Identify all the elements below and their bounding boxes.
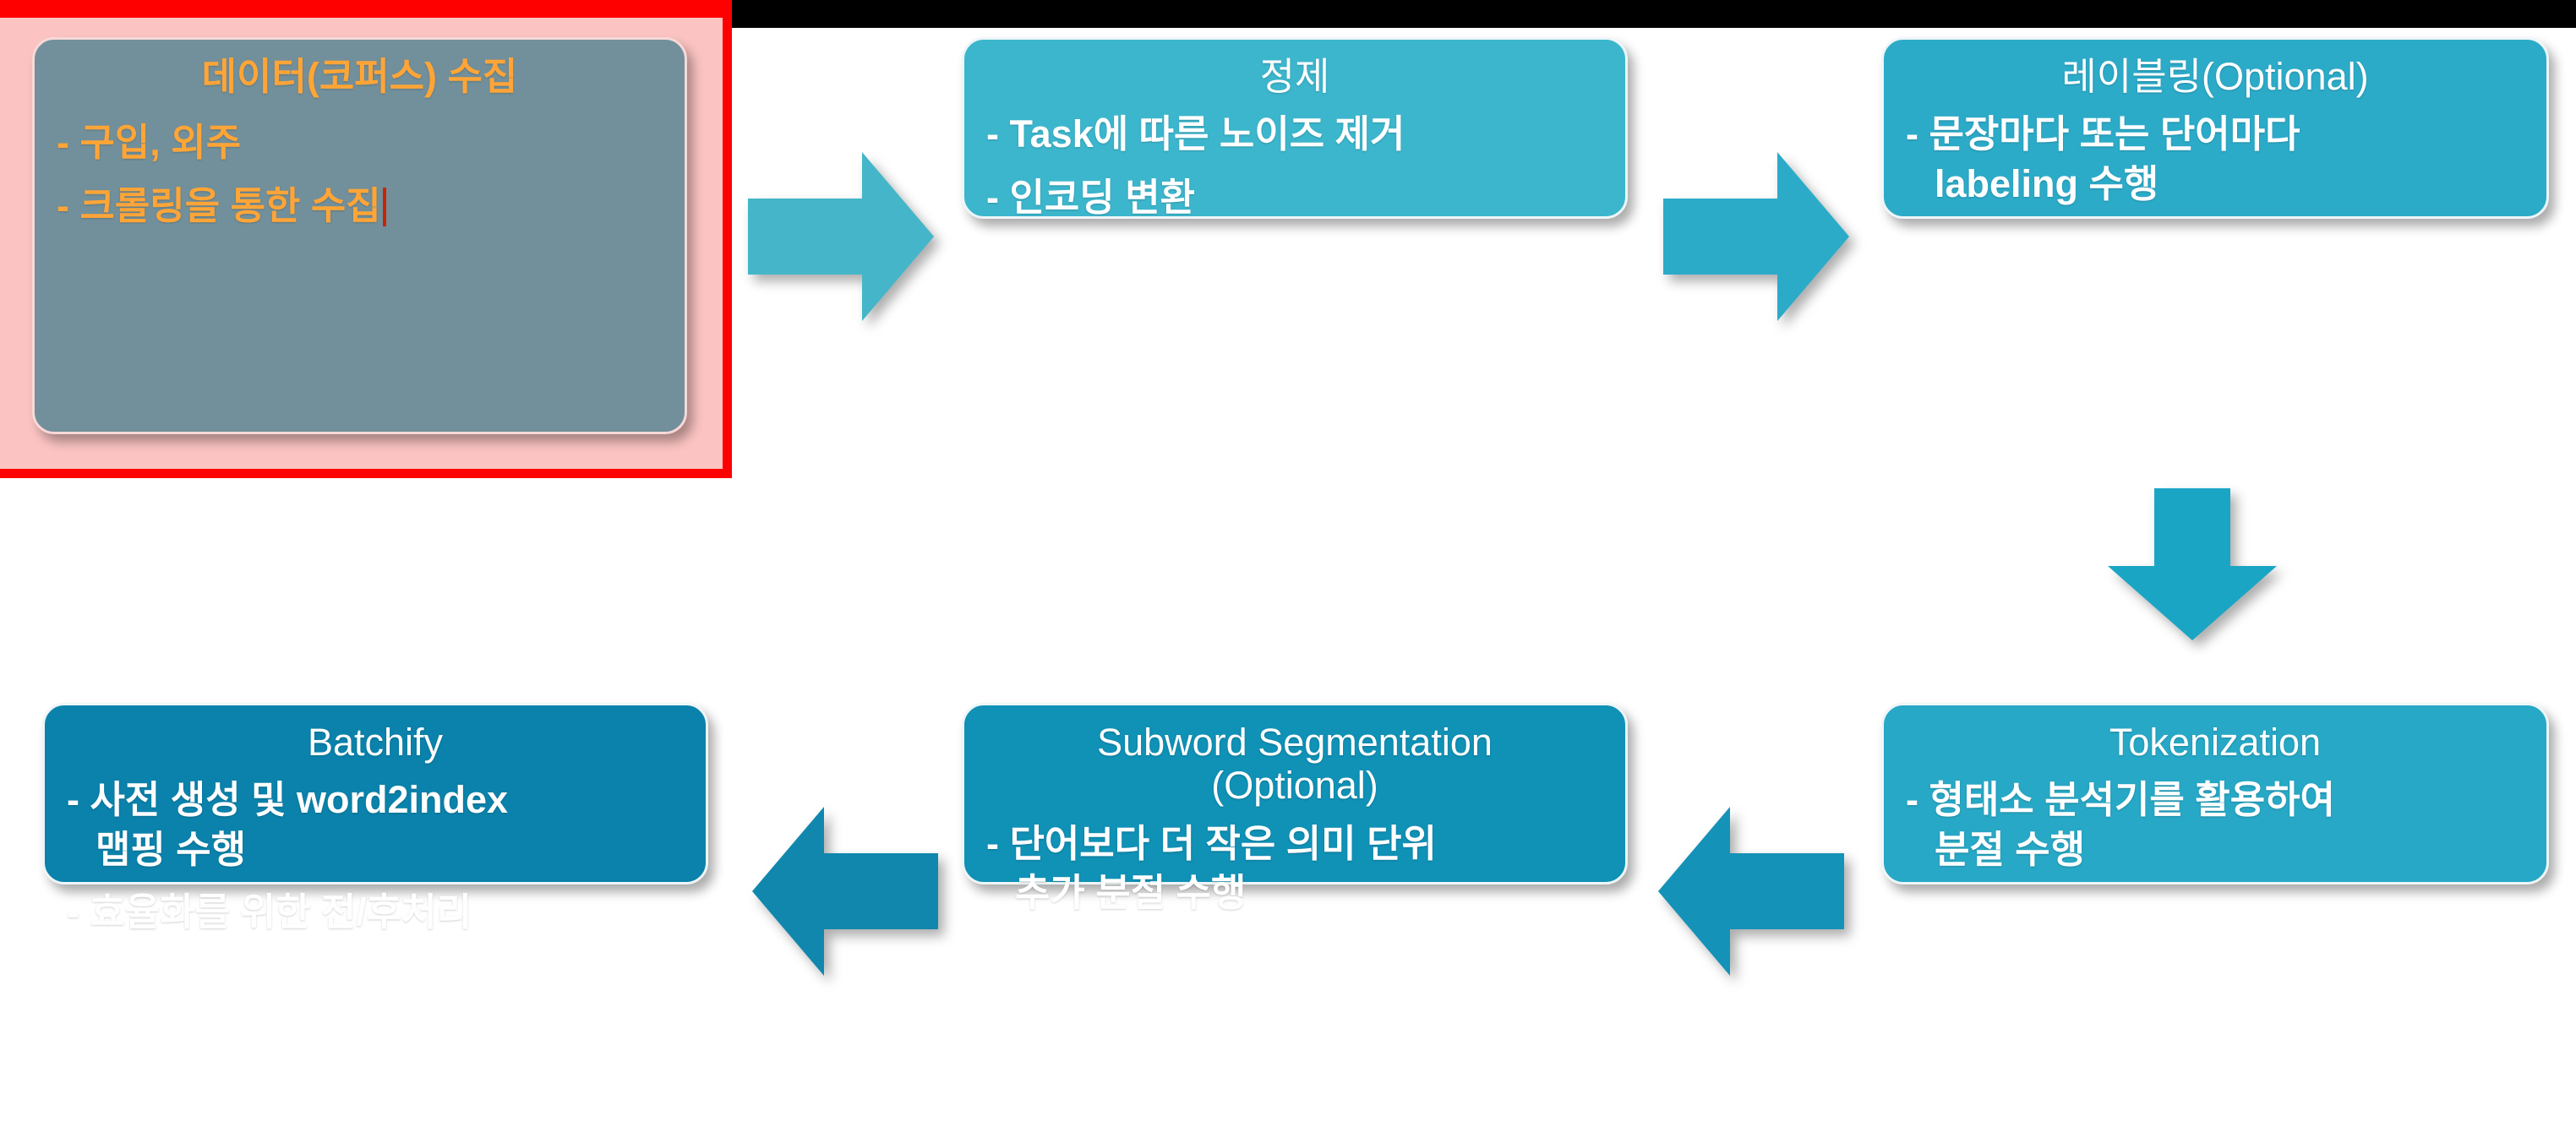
process-box-labeling[interactable]: 레이블링(Optional) - 문장마다 또는 단어마다 labeling 수… xyxy=(1881,37,2549,219)
process-box-labeling-bullets: - 문장마다 또는 단어마다 labeling 수행 xyxy=(1906,110,2524,209)
process-box-batchify[interactable]: Batchify - 사전 생성 및 word2index 맵핑 수행 - 효율… xyxy=(42,703,708,884)
process-box-clean-title: 정제 xyxy=(986,55,1603,98)
process-box-clean[interactable]: 정제 - Task에 따른 노이즈 제거 - 인코딩 변환 xyxy=(962,37,1628,219)
list-item: - 구입, 외주 xyxy=(57,118,663,168)
list-item: - 형태소 분석기를 활용하여 분절 수행 xyxy=(1906,776,2524,874)
process-box-tokenization-title: Tokenization xyxy=(1906,721,2524,764)
list-item: - 단어보다 더 작은 의미 단위 추가 분절 수행 xyxy=(986,819,1603,918)
process-box-collect[interactable]: 데이터(코퍼스) 수집 - 구입, 외주 - 크롤링을 통한 수집 xyxy=(32,37,687,434)
list-item: - 문장마다 또는 단어마다 labeling 수행 xyxy=(1906,110,2524,209)
arrow-right-icon xyxy=(748,152,934,321)
process-box-labeling-title: 레이블링(Optional) xyxy=(1906,55,2524,98)
process-box-batchify-title: Batchify xyxy=(67,721,684,764)
process-box-tokenization-bullets: - 형태소 분석기를 활용하여 분절 수행 xyxy=(1906,776,2524,874)
process-box-collect-title: 데이터(코퍼스) 수집 xyxy=(57,55,663,98)
process-box-tokenization[interactable]: Tokenization - 형태소 분석기를 활용하여 분절 수행 xyxy=(1881,703,2549,884)
arrow-down-icon xyxy=(2108,488,2277,640)
process-box-subword-segmentation[interactable]: Subword Segmentation (Optional) - 단어보다 더… xyxy=(962,703,1628,884)
list-item: - 인코딩 변환 xyxy=(986,173,1603,223)
arrow-left-icon xyxy=(1658,807,1844,976)
list-item: - Task에 따른 노이즈 제거 xyxy=(986,110,1603,160)
arrow-right-icon xyxy=(1663,152,1849,321)
list-item-with-caret: - 크롤링을 통한 수집 xyxy=(57,182,663,231)
process-box-batchify-bullets: - 사전 생성 및 word2index 맵핑 수행 - 효율화를 위한 전/후… xyxy=(67,776,684,938)
process-box-subword-segmentation-bullets: - 단어보다 더 작은 의미 단위 추가 분절 수행 xyxy=(986,819,1603,918)
arrow-left-icon xyxy=(752,807,938,976)
text-caret xyxy=(383,188,386,226)
top-status-bar xyxy=(717,0,2576,28)
process-box-subword-segmentation-title: Subword Segmentation (Optional) xyxy=(986,721,1603,808)
process-box-clean-bullets: - Task에 따른 노이즈 제거 - 인코딩 변환 xyxy=(986,110,1603,222)
list-item-text: - 크롤링을 통한 수집 xyxy=(57,184,381,227)
list-item: - 효율화를 위한 전/후처리 xyxy=(67,888,684,938)
process-box-collect-bullets: - 구입, 외주 - 크롤링을 통한 수집 xyxy=(57,118,663,231)
list-item: - 사전 생성 및 word2index 맵핑 수행 xyxy=(67,776,684,874)
